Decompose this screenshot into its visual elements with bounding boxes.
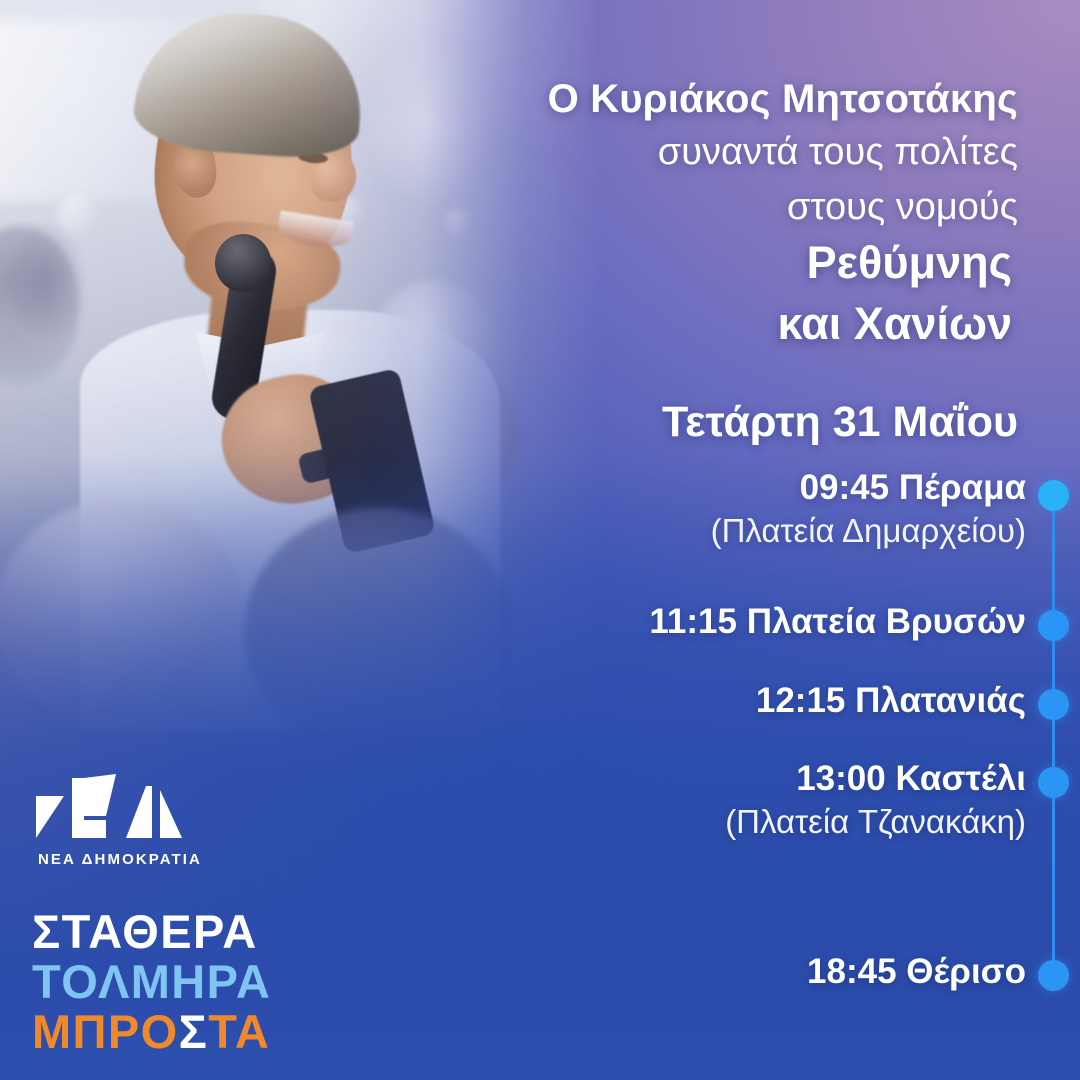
slogan-sigma-accent: Σ [179,1005,209,1058]
headline: Ο Κυριάκος Μητσοτάκης [398,78,1018,120]
party-name: ΝΕΑ ΔΗΜΟΚΡΑΤΙΑ [38,851,294,868]
stop-venue: (Πλατεία Δημαρχείου) [460,511,1026,551]
campaign-slogan: ΣΤΑΘΕΡΑ ΤΟΛΜΗΡΑ ΜΠΡΟΣΤΑ [32,908,271,1056]
region-line-1: Ρεθύμνης [398,236,1018,291]
party-logo: ΝΕΑ ΔΗΜΟΚΡΑΤΙΑ [34,772,294,868]
stop-venue: (Πλατεία Τζανακάκη) [460,802,1026,842]
timeline-dot [1038,767,1069,798]
campaign-poster: Ο Κυριάκος Μητσοτάκης συναντά τους πολίτ… [0,0,1080,1080]
region-name-rethymno: Ρεθύμνης [801,236,1018,291]
slogan-line-3: ΜΠΡΟΣΤΑ [32,1008,271,1056]
schedule-stop: 09:45 Πέραμα (Πλατεία Δημαρχείου) [460,468,1080,550]
subline-1: συναντά τους πολίτες [398,130,1018,175]
region-line-2: και Χανίων [398,297,1018,352]
timeline-dot [1038,960,1069,991]
slogan-line-2: ΤΟΛΜΗΡΑ [32,958,271,1006]
stop-time-place: 09:45 Πέραμα [460,468,1026,509]
schedule-stop: 13:00 Καστέλι (Πλατεία Τζανακάκη) [460,759,1080,841]
nea-dimokratia-logo-icon [34,772,184,844]
slogan-line-3-part-2: ΤΑ [208,1005,270,1058]
schedule-stop: 18:45 Θέρισο [460,952,1080,993]
stop-time-place: 12:15 Πλατανιάς [460,681,1026,722]
timeline-dot [1038,610,1069,641]
stop-time-place: 18:45 Θέρισο [460,952,1026,993]
schedule-stop: 12:15 Πλατανιάς [460,681,1080,722]
schedule-timeline: 09:45 Πέραμα (Πλατεία Δημαρχείου) 11:15 … [460,468,1080,992]
event-date: Τετάρτη 31 Μαΐου [398,398,1018,447]
slogan-line-3-part-1: ΜΠΡΟ [32,1005,179,1058]
subline-2: στους νομούς [398,185,1018,230]
region-name-chania: και Χανίων [771,297,1018,352]
stop-time-place: 13:00 Καστέλι [460,759,1026,800]
slogan-line-1: ΣΤΑΘΕΡΑ [32,908,271,956]
stop-time-place: 11:15 Πλατεία Βρυσών [460,602,1026,643]
timeline-dot [1038,480,1069,511]
schedule-stop: 11:15 Πλατεία Βρυσών [460,602,1080,643]
timeline-dot [1038,689,1069,720]
timeline-connector [1052,490,1055,970]
